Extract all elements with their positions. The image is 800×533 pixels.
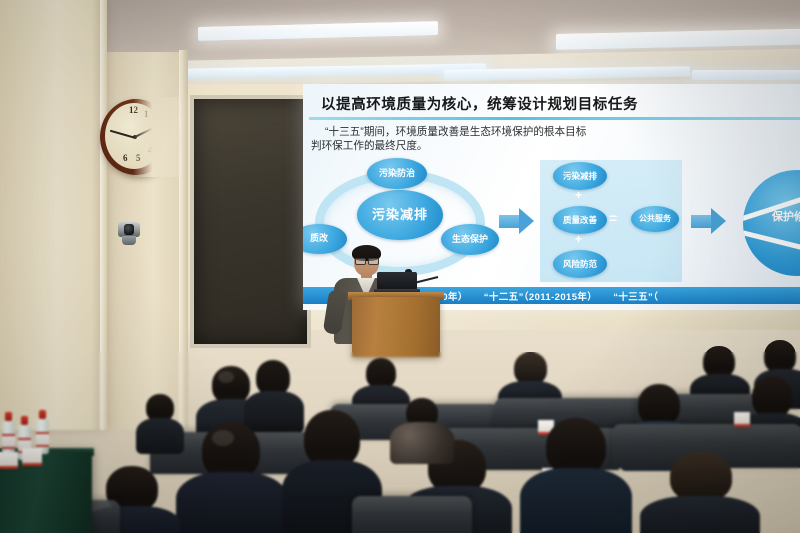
diagram-mid-node-2-label: 质量改善 <box>563 216 597 225</box>
diagram-node-br-label: 生态保护 <box>452 235 488 244</box>
attendee-head <box>670 452 732 502</box>
lens-right <box>368 258 379 265</box>
hair-highlight <box>218 371 234 383</box>
attendee <box>520 418 632 533</box>
arrow-shaft <box>691 215 713 228</box>
attendee <box>136 394 184 448</box>
bottle-cap <box>21 416 28 425</box>
laptop <box>374 272 418 294</box>
diagram-node-bottom-right: 生态保护 <box>441 224 499 255</box>
attendee-shoulders <box>136 418 184 454</box>
ceiling-light <box>692 70 800 80</box>
glasses-icon <box>355 258 378 263</box>
hair-highlight <box>212 430 234 446</box>
camera-mount <box>122 236 136 245</box>
diagram-mid-node-2: 质量改善 <box>553 206 607 234</box>
wooden-podium <box>352 297 440 357</box>
name-card <box>734 412 750 427</box>
slide-body-line-2: 判环保工作的最终尺度。 <box>311 139 799 153</box>
diagram-node-center-label: 污染减排 <box>372 208 428 221</box>
timeline-item-2: “十二五”（2011-2015年） <box>484 289 613 303</box>
wall-clock: 12 1 2 3 4 5 6 <box>100 99 172 175</box>
lens-left <box>355 258 366 265</box>
camera-lens-icon <box>124 224 134 235</box>
water-bottle <box>2 412 15 456</box>
attendee <box>394 398 450 460</box>
slide-title: 以提高环境质量为核心，统筹设计规划目标任务 <box>321 93 800 114</box>
diagram-plus-2: + <box>575 232 582 246</box>
slide-body: “十三五”期间，环境质量改善是生态环境保护的根本目标 判环保工作的最终尺度。 <box>325 125 799 153</box>
name-card <box>22 448 42 466</box>
pie-slice-top-label: 污染治 <box>791 174 800 183</box>
diagram-mid-node-1: 污染减排 <box>553 162 607 190</box>
diagram-mid-node-result-label: 公共服务 <box>639 215 671 223</box>
dark-wall-panel <box>190 95 311 348</box>
attendee <box>640 452 760 533</box>
attendee-shoulders <box>640 496 760 533</box>
bottle-cap <box>39 410 46 419</box>
pie-slice-mid-label: 保护修复 <box>757 212 800 224</box>
attendee <box>176 422 288 533</box>
arrow-head-icon <box>519 208 534 234</box>
title-underline <box>309 117 800 120</box>
auditorium-seat <box>352 496 472 533</box>
pie-slice-bottom-label: 风险管 <box>795 252 800 261</box>
slide-body-line-1: “十三五”期间，环境质量改善是生态环境保护的根本目标 <box>325 125 799 139</box>
diagram-pie: 污染治 保护修复 风险管 <box>743 170 800 276</box>
diagram-node-top: 污染防治 <box>367 158 427 189</box>
arrow-shaft <box>499 215 521 228</box>
conference-room-photo: 12 1 2 3 4 5 6 以提高环境质量为核心，统筹设计规划目标任务 “十三… <box>0 0 800 533</box>
diagram-node-bl-label: 质改 <box>310 234 328 243</box>
clock-occluder <box>133 97 179 177</box>
fur-collar <box>390 422 454 464</box>
attendee-shoulders <box>520 468 632 533</box>
diagram-plus-1: + <box>575 188 582 202</box>
diagram-mid-node-1-label: 污染减排 <box>563 172 597 181</box>
diagram-mid-node-3-label: 风险防范 <box>563 260 597 269</box>
ptz-camera <box>118 222 140 246</box>
attendee-shoulders <box>176 472 288 533</box>
name-card <box>0 452 18 469</box>
wall-pillar <box>0 0 104 430</box>
diagram-node-top-label: 污染防治 <box>379 169 415 178</box>
arrow-head-icon <box>711 208 726 234</box>
attendee-head <box>638 384 680 426</box>
diagram-mid-node-3: 风险防范 <box>553 250 607 278</box>
diagram-mid-node-result: 公共服务 <box>631 206 679 232</box>
wall-edge <box>179 50 188 430</box>
bottle-label <box>36 432 49 447</box>
clock-minute-hand <box>110 130 135 139</box>
pillar-edge <box>100 0 107 430</box>
pie-divider <box>743 228 800 264</box>
timeline-item-3: “十三五”（ <box>613 289 674 303</box>
bottle-cap <box>5 412 12 421</box>
diagram-node-center: 污染减排 <box>357 190 443 240</box>
bottle-label <box>2 434 15 449</box>
clock-number: 6 <box>123 153 128 163</box>
laptop-screen <box>377 272 417 290</box>
attendee-head <box>752 376 792 418</box>
diagram-equals: = <box>609 210 617 226</box>
